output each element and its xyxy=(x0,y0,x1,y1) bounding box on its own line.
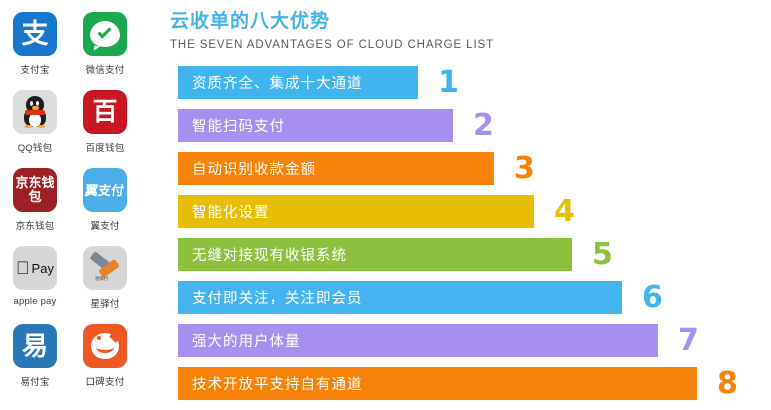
bar-row: 资质齐全、集成十大通道1 xyxy=(178,66,771,99)
bar-row: 自动识别收款金额3 xyxy=(178,152,771,185)
apple-pay-icon:  Pay xyxy=(13,246,57,290)
bar-label: 智能扫码支付 xyxy=(192,115,285,136)
bar-label: 技术开放平支持自有通道 xyxy=(192,373,363,394)
bar-rank-number: 1 xyxy=(438,68,459,98)
bar-label: 支付即关注，关注即会员 xyxy=(192,287,363,308)
bar-row: 智能扫码支付2 xyxy=(178,109,771,142)
apple-logo-icon:  xyxy=(16,259,30,277)
advantages-bar-chart: 资质齐全、集成十大通道1智能扫码支付2自动识别收款金额3智能化设置4无缝对接现有… xyxy=(178,66,771,410)
bar-rank-number: 3 xyxy=(514,154,535,184)
koubei-pay-icon xyxy=(83,324,127,368)
bar-rank-number: 7 xyxy=(678,326,699,356)
app-label-jd-wallet: 京东钱包 xyxy=(16,218,55,232)
app-cell-apple-pay[interactable]:  Pay apple pay xyxy=(0,246,70,324)
app-cell-koubei-pay[interactable]: 口碑支付 xyxy=(70,324,140,402)
bar-rank-number: 6 xyxy=(642,283,663,313)
bar-row: 支付即关注，关注即会员6 xyxy=(178,281,771,314)
page-title: 云收单的八大优势 xyxy=(170,10,494,34)
app-label-yifubao: 易付宝 xyxy=(20,374,49,388)
bar-row: 智能化设置4 xyxy=(178,195,771,228)
bar-label: 资质齐全、集成十大通道 xyxy=(192,72,363,93)
bar-7: 强大的用户体量 xyxy=(178,324,658,357)
app-label-apple-pay: apple pay xyxy=(13,296,56,307)
bar-5: 无缝对接现有收银系统 xyxy=(178,238,572,271)
bar-row: 无缝对接现有收银系统5 xyxy=(178,238,771,271)
bar-2: 智能扫码支付 xyxy=(178,109,453,142)
app-cell-alipay[interactable]: 支 支付宝 xyxy=(0,12,70,90)
bar-6: 支付即关注，关注即会员 xyxy=(178,281,622,314)
qq-wallet-icon xyxy=(13,90,57,134)
bar-row: 技术开放平支持自有通道8 xyxy=(178,367,771,400)
app-cell-yifubao[interactable]: 易 易付宝 xyxy=(0,324,70,402)
bar-rank-number: 2 xyxy=(473,111,494,141)
app-label-alipay: 支付宝 xyxy=(20,62,49,76)
bar-3: 自动识别收款金额 xyxy=(178,152,494,185)
apple-pay-glyph: Pay xyxy=(32,261,54,276)
bar-1: 资质齐全、集成十大通道 xyxy=(178,66,418,99)
bar-4: 智能化设置 xyxy=(178,195,534,228)
jd-wallet-icon: 京东钱包 xyxy=(13,168,57,212)
baidu-wallet-icon: 百 xyxy=(83,90,127,134)
best-pay-glyph: 翼支付 xyxy=(85,184,126,197)
app-cell-best-pay[interactable]: 翼支付 翼支付 xyxy=(70,168,140,246)
bar-label: 强大的用户体量 xyxy=(192,330,301,351)
wechat-pay-icon xyxy=(83,12,127,56)
jd-glyph: 京东钱包 xyxy=(13,176,57,204)
yifubao-icon: 易 xyxy=(13,324,57,368)
app-cell-xingyifu[interactable]: 星驿付 星驿付 xyxy=(70,246,140,324)
bar-rank-number: 8 xyxy=(717,369,738,399)
app-label-best-pay: 翼支付 xyxy=(90,218,119,232)
xingyifu-icon: 星驿付 xyxy=(83,246,127,290)
chart-header: 云收单的八大优势 THE SEVEN ADVANTAGES OF CLOUD C… xyxy=(170,10,494,52)
baidu-glyph: 百 xyxy=(92,100,117,125)
page-subtitle: THE SEVEN ADVANTAGES OF CLOUD CHARGE LIS… xyxy=(170,38,494,52)
app-label-baidu-wallet: 百度钱包 xyxy=(86,140,125,154)
app-label-xingyifu: 星驿付 xyxy=(90,296,119,310)
best-pay-icon: 翼支付 xyxy=(83,168,127,212)
page-root: 支 支付宝 微信支付 QQ钱包 百 xyxy=(0,0,771,408)
bar-rank-number: 5 xyxy=(592,240,613,270)
bar-rank-number: 4 xyxy=(554,197,575,227)
app-label-koubei-pay: 口碑支付 xyxy=(86,374,125,388)
app-cell-wechat-pay[interactable]: 微信支付 xyxy=(70,12,140,90)
app-cell-qq-wallet[interactable]: QQ钱包 xyxy=(0,90,70,168)
payment-apps-sidebar: 支 支付宝 微信支付 QQ钱包 百 xyxy=(0,0,140,408)
alipay-glyph: 支 xyxy=(22,21,49,48)
bar-row: 强大的用户体量7 xyxy=(178,324,771,357)
bar-label: 智能化设置 xyxy=(192,201,270,222)
bar-label: 无缝对接现有收银系统 xyxy=(192,244,347,265)
app-cell-baidu-wallet[interactable]: 百 百度钱包 xyxy=(70,90,140,168)
bar-8: 技术开放平支持自有通道 xyxy=(178,367,697,400)
alipay-icon: 支 xyxy=(13,12,57,56)
bar-label: 自动识别收款金额 xyxy=(192,158,316,179)
app-label-qq-wallet: QQ钱包 xyxy=(18,140,53,154)
app-cell-jd-wallet[interactable]: 京东钱包 京东钱包 xyxy=(0,168,70,246)
yifubao-glyph: 易 xyxy=(22,333,48,359)
app-label-wechat-pay: 微信支付 xyxy=(86,62,125,76)
